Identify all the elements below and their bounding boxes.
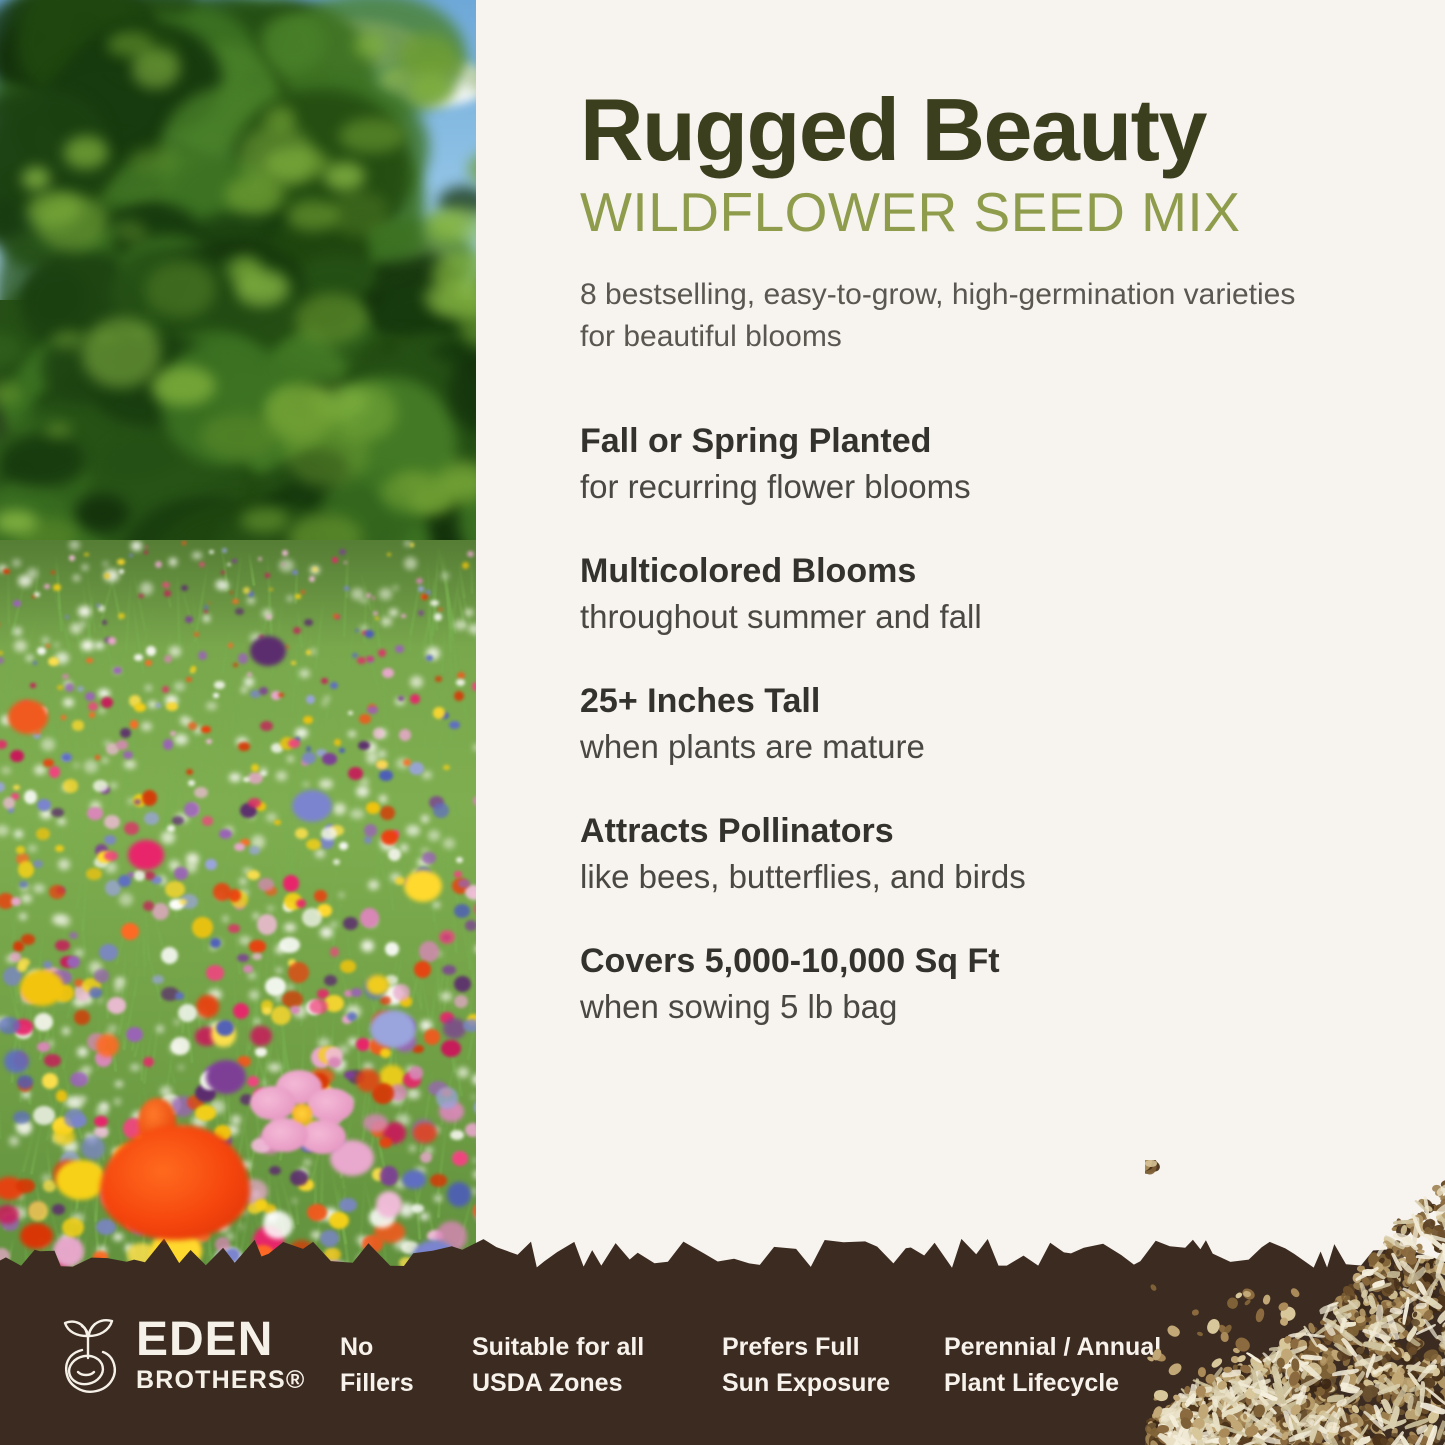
feature-subtitle: like bees, butterflies, and birds [580,856,1380,897]
footer-bar: EDEN BROTHERS® No Fillers Suitable for a… [0,1280,1445,1445]
pink-cosmos [250,1070,358,1158]
footer-badge-lifecycle: Perennial / Annual Plant Lifecycle [944,1330,1161,1401]
content-column: Rugged Beauty WILDFLOWER SEED MIX 8 best… [580,0,1380,1071]
sprouting-seed-icon [52,1312,124,1396]
feature-list: Fall or Spring Planted for recurring flo… [580,421,1380,1027]
wildflower-meadow-photo [0,0,476,1300]
feature-item: Attracts Pollinators like bees, butterfl… [580,811,1380,897]
feature-title: Fall or Spring Planted [580,421,1380,462]
feature-title: Covers 5,000-10,000 Sq Ft [580,941,1380,982]
feature-item: Fall or Spring Planted for recurring flo… [580,421,1380,507]
logo-wordmark: EDEN [136,1316,306,1364]
feature-title: 25+ Inches Tall [580,681,1380,722]
feature-subtitle: throughout summer and fall [580,596,1380,637]
page-subtitle: WILDFLOWER SEED MIX [580,182,1380,244]
logo-subwordmark: BROTHERS® [136,1368,306,1393]
feature-subtitle: when plants are mature [580,726,1380,767]
feature-item: Covers 5,000-10,000 Sq Ft when sowing 5 … [580,941,1380,1027]
feature-title: Attracts Pollinators [580,811,1380,852]
tagline: 8 bestselling, easy-to-grow, high-germin… [580,274,1310,359]
footer-badge-no-fillers: No Fillers [340,1330,414,1401]
feature-item: Multicolored Blooms throughout summer an… [580,551,1380,637]
product-poster: Rugged Beauty WILDFLOWER SEED MIX 8 best… [0,0,1445,1445]
feature-subtitle: for recurring flower blooms [580,466,1380,507]
feature-item: 25+ Inches Tall when plants are mature [580,681,1380,767]
feature-subtitle: when sowing 5 lb bag [580,986,1380,1027]
eden-brothers-logo[interactable]: EDEN BROTHERS® [52,1312,306,1396]
footer-badge-usda-zones: Suitable for all USDA Zones [472,1330,644,1401]
footer-badge-sun-exposure: Prefers Full Sun Exposure [722,1330,890,1401]
torn-soil-edge [0,1234,1445,1280]
tree-line [0,0,476,600]
page-title: Rugged Beauty [580,86,1380,174]
feature-title: Multicolored Blooms [580,551,1380,592]
